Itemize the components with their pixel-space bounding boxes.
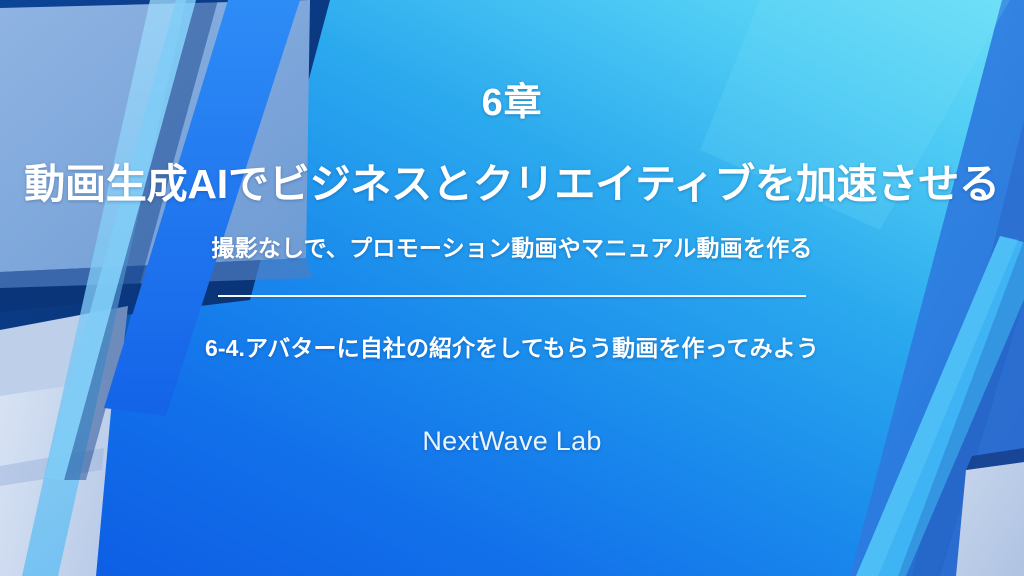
title-slide: 6章 動画生成AIでビジネスとクリエイティブを加速させる 撮影なしで、プロモーシ… xyxy=(0,0,1024,576)
slide-headline: 動画生成AIでビジネスとクリエイティブを加速させる xyxy=(24,162,1000,207)
brand-name: NextWave Lab xyxy=(422,428,601,455)
slide-subtitle: 撮影なしで、プロモーション動画やマニュアル動画を作る xyxy=(211,235,812,263)
divider-rule xyxy=(218,295,806,297)
section-label: 6-4.アバターに自社の紹介をしてもらう動画を作ってみよう xyxy=(205,335,819,363)
chapter-label: 6章 xyxy=(482,84,543,122)
slide-content: 6章 動画生成AIでビジネスとクリエイティブを加速させる 撮影なしで、プロモーシ… xyxy=(0,0,1024,576)
